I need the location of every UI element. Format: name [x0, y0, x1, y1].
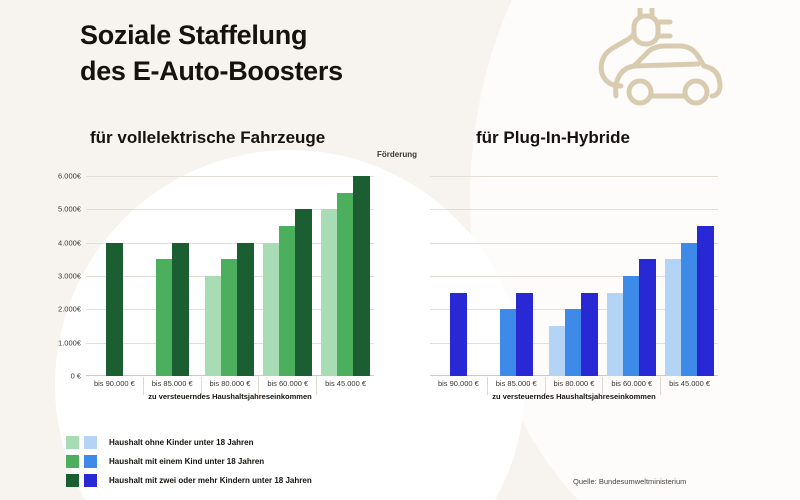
y-axis-tick-label: 4.000€ [58, 238, 81, 247]
legend-swatch-blue [84, 436, 97, 449]
bar [549, 326, 566, 376]
page-title: Soziale Staffelung des E-Auto-Boosters [80, 18, 343, 90]
y-axis-title: Förderung [377, 150, 417, 159]
legend-item: Haushalt mit einem Kind unter 18 Jahren [66, 452, 312, 471]
bar [665, 259, 682, 376]
bar [156, 259, 173, 376]
legend-swatch-blue [84, 474, 97, 487]
bar [337, 193, 354, 376]
bar-group [660, 176, 718, 376]
legend-item: Haushalt mit zwei oder mehr Kindern unte… [66, 471, 312, 490]
bar [500, 309, 517, 376]
bar [697, 226, 714, 376]
legend-item: Haushalt ohne Kinder unter 18 Jahren [66, 433, 312, 452]
bar [172, 243, 189, 376]
y-axis-tick-label: 5.000€ [58, 205, 81, 214]
legend-item-label: Haushalt mit einem Kind unter 18 Jahren [109, 457, 264, 466]
y-axis-tick-label: 3.000€ [58, 272, 81, 281]
bar [106, 243, 123, 376]
bar-group [144, 176, 202, 376]
bar [353, 176, 370, 376]
bar-groups [86, 176, 374, 376]
bar [516, 293, 533, 376]
bar-group [545, 176, 603, 376]
bar [450, 293, 467, 376]
y-axis-tick-label: 2.000€ [58, 305, 81, 314]
bar [607, 293, 624, 376]
bar-group [316, 176, 374, 376]
bar [321, 209, 338, 376]
bar [205, 276, 222, 376]
bar [581, 293, 598, 376]
chart-heading-right: für Plug-In-Hybride [476, 128, 630, 148]
legend-swatch-green [66, 474, 79, 487]
bar-group [86, 176, 144, 376]
y-axis-tick-label: 1.000€ [58, 338, 81, 347]
bar-group [259, 176, 317, 376]
bar [279, 226, 296, 376]
x-axis-title-right: zu versteuerndes Haushaltsjahreseinkomme… [430, 392, 718, 406]
bar [681, 243, 698, 376]
bar-group [488, 176, 546, 376]
bar [263, 243, 280, 376]
bar-group [430, 176, 488, 376]
y-axis-tick-label: 0 € [71, 372, 81, 381]
legend-swatch-green [66, 455, 79, 468]
legend-item-label: Haushalt ohne Kinder unter 18 Jahren [109, 438, 253, 447]
chart-plot-vollelektrisch: 0 €1.000€2.000€3.000€4.000€5.000€6.000€ [86, 176, 374, 376]
bar-group [603, 176, 661, 376]
x-axis-title-left: zu versteuerndes Haushaltsjahreseinkomme… [86, 392, 374, 406]
legend-swatch-green [66, 436, 79, 449]
chart-plot-plugin-hybride: 0100020003000400050006000 [430, 176, 718, 376]
bar [623, 276, 640, 376]
bar [565, 309, 582, 376]
electric-car-plug-icon [588, 8, 728, 113]
legend: Haushalt ohne Kinder unter 18 JahrenHaus… [66, 433, 312, 490]
bar-group [201, 176, 259, 376]
y-axis-tick-label: 6.000€ [58, 172, 81, 181]
bar [639, 259, 656, 376]
bar [295, 209, 312, 376]
legend-swatch-blue [84, 455, 97, 468]
infographic-canvas: Soziale Staffelung des E-Auto-Boosters f… [0, 0, 800, 500]
bar [237, 243, 254, 376]
legend-item-label: Haushalt mit zwei oder mehr Kindern unte… [109, 476, 312, 485]
bar [221, 259, 238, 376]
chart-heading-left: für vollelektrische Fahrzeuge [90, 128, 325, 148]
source-note: Quelle: Bundesumweltministerium [573, 477, 686, 486]
bar-groups [430, 176, 718, 376]
